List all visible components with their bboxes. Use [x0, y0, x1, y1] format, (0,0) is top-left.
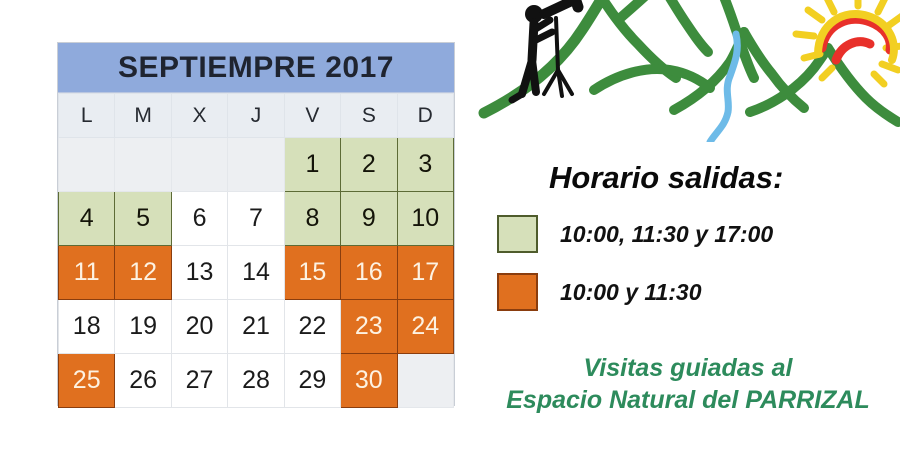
calendar-day-empty [59, 138, 115, 192]
calendar-day-cell[interactable]: 16 [341, 246, 397, 300]
calendar-day-cell[interactable]: 5 [115, 192, 171, 246]
calendar-day-cell[interactable]: 20 [171, 300, 227, 354]
legend-item-orange: 10:00 y 11:30 [497, 273, 702, 311]
calendar-day-cell[interactable]: 13 [171, 246, 227, 300]
calendar-day-cell[interactable]: 23 [341, 300, 397, 354]
calendar-day-cell[interactable]: 17 [397, 246, 453, 300]
footer-line-2: Espacio Natural del PARRIZAL [478, 384, 898, 416]
weekday-header: L [59, 94, 115, 138]
calendar-day-cell[interactable]: 2 [341, 138, 397, 192]
calendar-day-cell[interactable]: 27 [171, 354, 227, 408]
parrizal-nature-logo [478, 0, 900, 142]
mountain-stroke-mid-left [618, 0, 660, 20]
calendar-day-cell[interactable]: 14 [228, 246, 284, 300]
hill-stroke-foreground [594, 69, 710, 90]
legend-label-orange: 10:00 y 11:30 [560, 279, 702, 306]
weekday-header: X [171, 94, 227, 138]
legend-swatch-orange-icon [497, 273, 538, 311]
calendar-day-cell[interactable]: 30 [341, 354, 397, 408]
calendar-widget[interactable]: SEPTIEMPRE 2017 L M X J V S D 1234567891… [57, 42, 455, 406]
calendar-day-cell[interactable]: 21 [228, 300, 284, 354]
calendar-day-cell[interactable]: 29 [284, 354, 340, 408]
weekday-header: D [397, 94, 453, 138]
calendar-day-empty [171, 138, 227, 192]
calendar-day-cell[interactable]: 26 [115, 354, 171, 408]
calendar-day-cell[interactable]: 7 [228, 192, 284, 246]
calendar-week-row: 18192021222324 [59, 300, 454, 354]
calendar-day-cell[interactable]: 10 [397, 192, 453, 246]
calendar-body[interactable]: 1234567891011121314151617181920212223242… [59, 138, 454, 408]
calendar-week-row: 252627282930 [59, 354, 454, 408]
calendar-weekday-row: L M X J V S D [59, 94, 454, 138]
calendar-day-cell[interactable]: 28 [228, 354, 284, 408]
calendar-day-empty [115, 138, 171, 192]
calendar-day-empty [397, 354, 453, 408]
mountain-stroke-mid [660, 0, 708, 52]
calendar-month-title: SEPTIEMPRE 2017 [58, 43, 454, 93]
calendar-day-cell[interactable]: 12 [115, 246, 171, 300]
calendar-day-cell[interactable]: 8 [284, 192, 340, 246]
calendar-day-cell[interactable]: 18 [59, 300, 115, 354]
calendar-week-row: 11121314151617 [59, 246, 454, 300]
weekday-header: M [115, 94, 171, 138]
calendar-day-cell[interactable]: 19 [115, 300, 171, 354]
calendar-day-cell[interactable]: 15 [284, 246, 340, 300]
calendar-week-row: 45678910 [59, 192, 454, 246]
calendar-day-cell[interactable]: 6 [171, 192, 227, 246]
footer-caption: Visitas guiadas al Espacio Natural del P… [478, 352, 898, 416]
weekday-header: S [341, 94, 397, 138]
weekday-header: V [284, 94, 340, 138]
calendar-day-cell[interactable]: 1 [284, 138, 340, 192]
calendar-day-empty [228, 138, 284, 192]
calendar-day-cell[interactable]: 11 [59, 246, 115, 300]
calendar-grid[interactable]: L M X J V S D 12345678910111213141516171… [58, 93, 454, 408]
legend-label-green: 10:00, 11:30 y 17:00 [560, 221, 773, 248]
calendar-day-cell[interactable]: 25 [59, 354, 115, 408]
calendar-day-cell[interactable]: 9 [341, 192, 397, 246]
calendar-day-cell[interactable]: 3 [397, 138, 453, 192]
weekday-header: J [228, 94, 284, 138]
legend-swatch-green-icon [497, 215, 538, 253]
footer-line-1: Visitas guiadas al [478, 352, 898, 384]
schedule-heading: Horario salidas: [549, 160, 783, 196]
calendar-week-row: 123 [59, 138, 454, 192]
legend-item-green: 10:00, 11:30 y 17:00 [497, 215, 773, 253]
calendar-day-cell[interactable]: 4 [59, 192, 115, 246]
calendar-day-cell[interactable]: 24 [397, 300, 453, 354]
calendar-day-cell[interactable]: 22 [284, 300, 340, 354]
